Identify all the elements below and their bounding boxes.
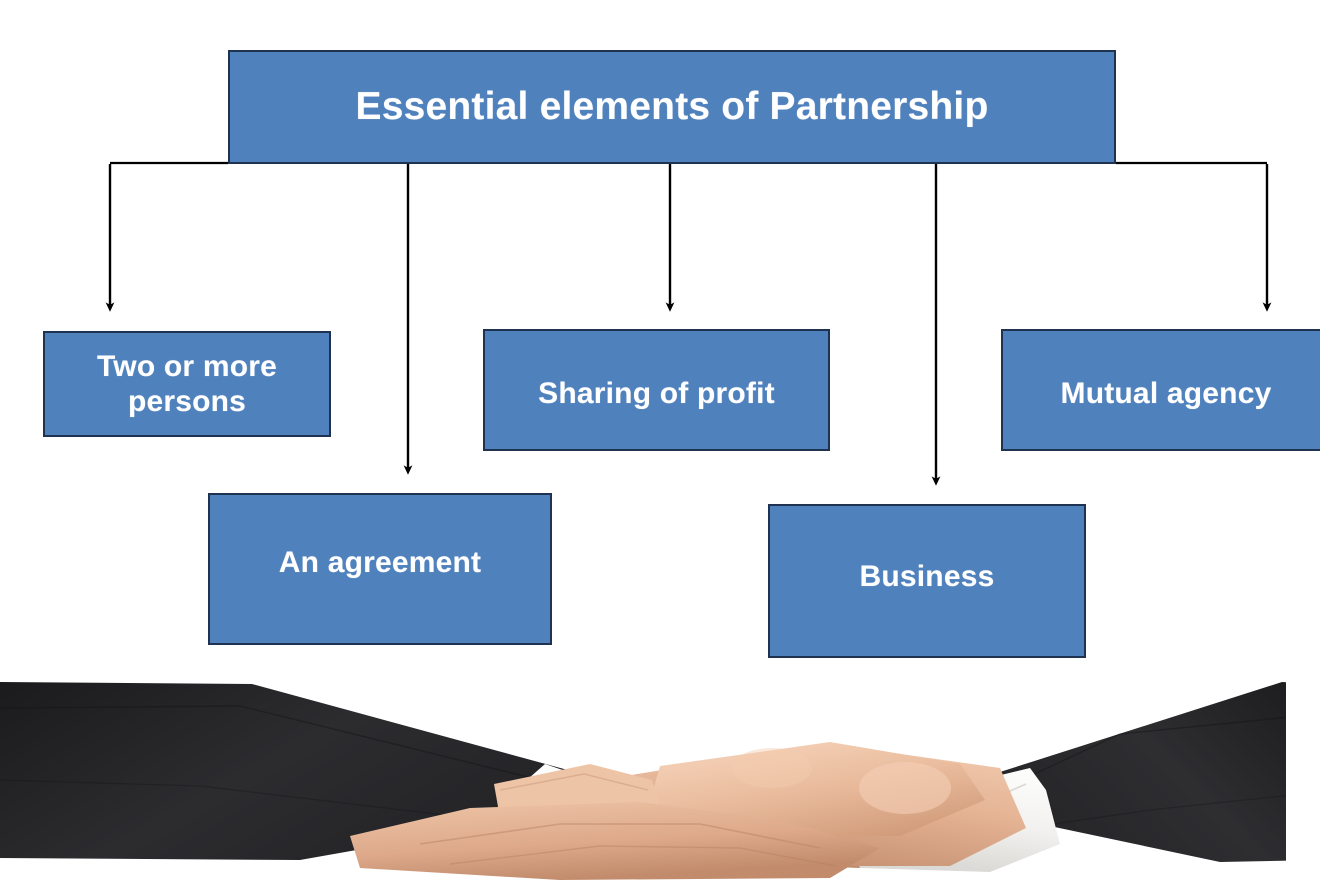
- node-sharing-of-profit[interactable]: Sharing of profit: [483, 329, 830, 451]
- node-two-or-more-persons[interactable]: Two or more persons: [43, 331, 331, 437]
- node-an-agreement[interactable]: An agreement: [208, 493, 552, 645]
- node-title-label: Essential elements of Partnership: [230, 84, 1114, 130]
- node-two-or-more-persons-label: Two or more persons: [45, 349, 329, 420]
- node-business[interactable]: Business: [768, 504, 1086, 658]
- connector-to-two-or-more-persons: [110, 163, 228, 307]
- node-an-agreement-label: An agreement: [210, 545, 550, 580]
- diagram-canvas: Essential elements of Partnership Two or…: [0, 0, 1320, 880]
- connector-to-mutual-agency: [1116, 163, 1267, 307]
- node-essential-elements-of-partnership[interactable]: Essential elements of Partnership: [228, 50, 1116, 164]
- node-mutual-agency[interactable]: Mutual agency: [1001, 329, 1320, 451]
- node-mutual-agency-label: Mutual agency: [1003, 376, 1320, 411]
- node-sharing-of-profit-label: Sharing of profit: [485, 376, 828, 411]
- node-business-label: Business: [770, 559, 1084, 594]
